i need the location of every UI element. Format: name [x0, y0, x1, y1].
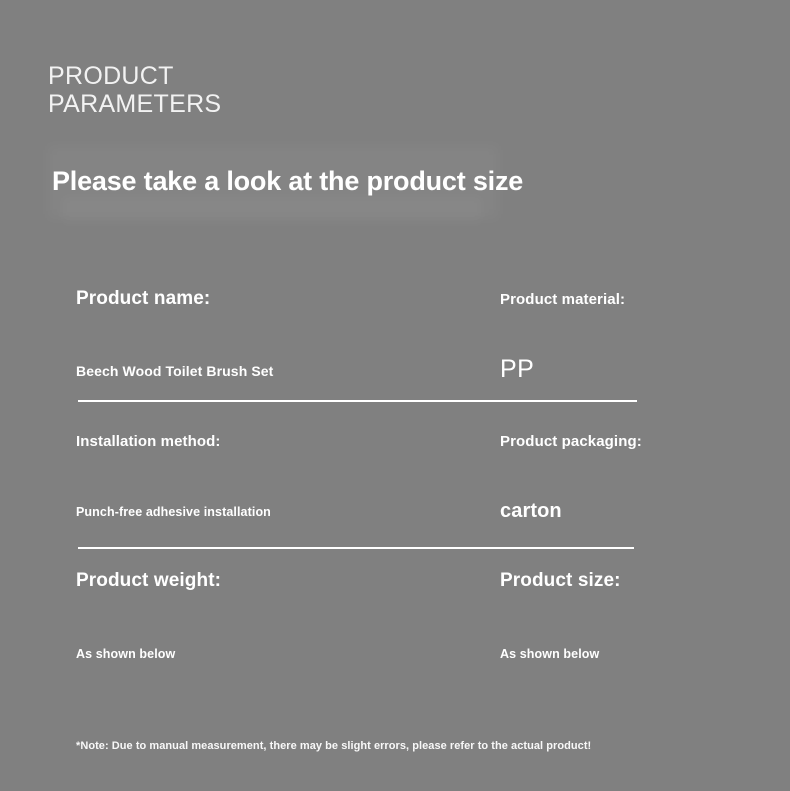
spec-divider-2 — [78, 547, 634, 549]
spec-value-product-size: As shown below — [500, 647, 599, 661]
spec-label-product-packaging: Product packaging: — [500, 433, 642, 450]
spec-label-product-weight: Product weight: — [76, 570, 221, 592]
ghost-watermark-band-secondary — [62, 196, 482, 222]
spec-value-product-packaging: carton — [500, 500, 562, 523]
section-subheading: Please take a look at the product size — [52, 166, 523, 197]
spec-label-product-material: Product material: — [500, 291, 625, 308]
spec-label-product-name: Product name: — [76, 288, 210, 310]
spec-label-product-size: Product size: — [500, 570, 621, 592]
measurement-disclaimer-note: *Note: Due to manual measurement, there … — [76, 740, 591, 752]
spec-value-product-material: PP — [500, 355, 534, 384]
spec-label-installation-method: Installation method: — [76, 433, 221, 450]
spec-divider-1 — [78, 400, 637, 402]
spec-value-product-weight: As shown below — [76, 647, 175, 661]
product-parameters-page: PRODUCT PARAMETERS Please take a look at… — [0, 0, 790, 791]
spec-value-product-name: Beech Wood Toilet Brush Set — [76, 363, 273, 379]
page-title: PRODUCT PARAMETERS — [48, 62, 221, 118]
spec-value-installation-method: Punch-free adhesive installation — [76, 505, 271, 519]
